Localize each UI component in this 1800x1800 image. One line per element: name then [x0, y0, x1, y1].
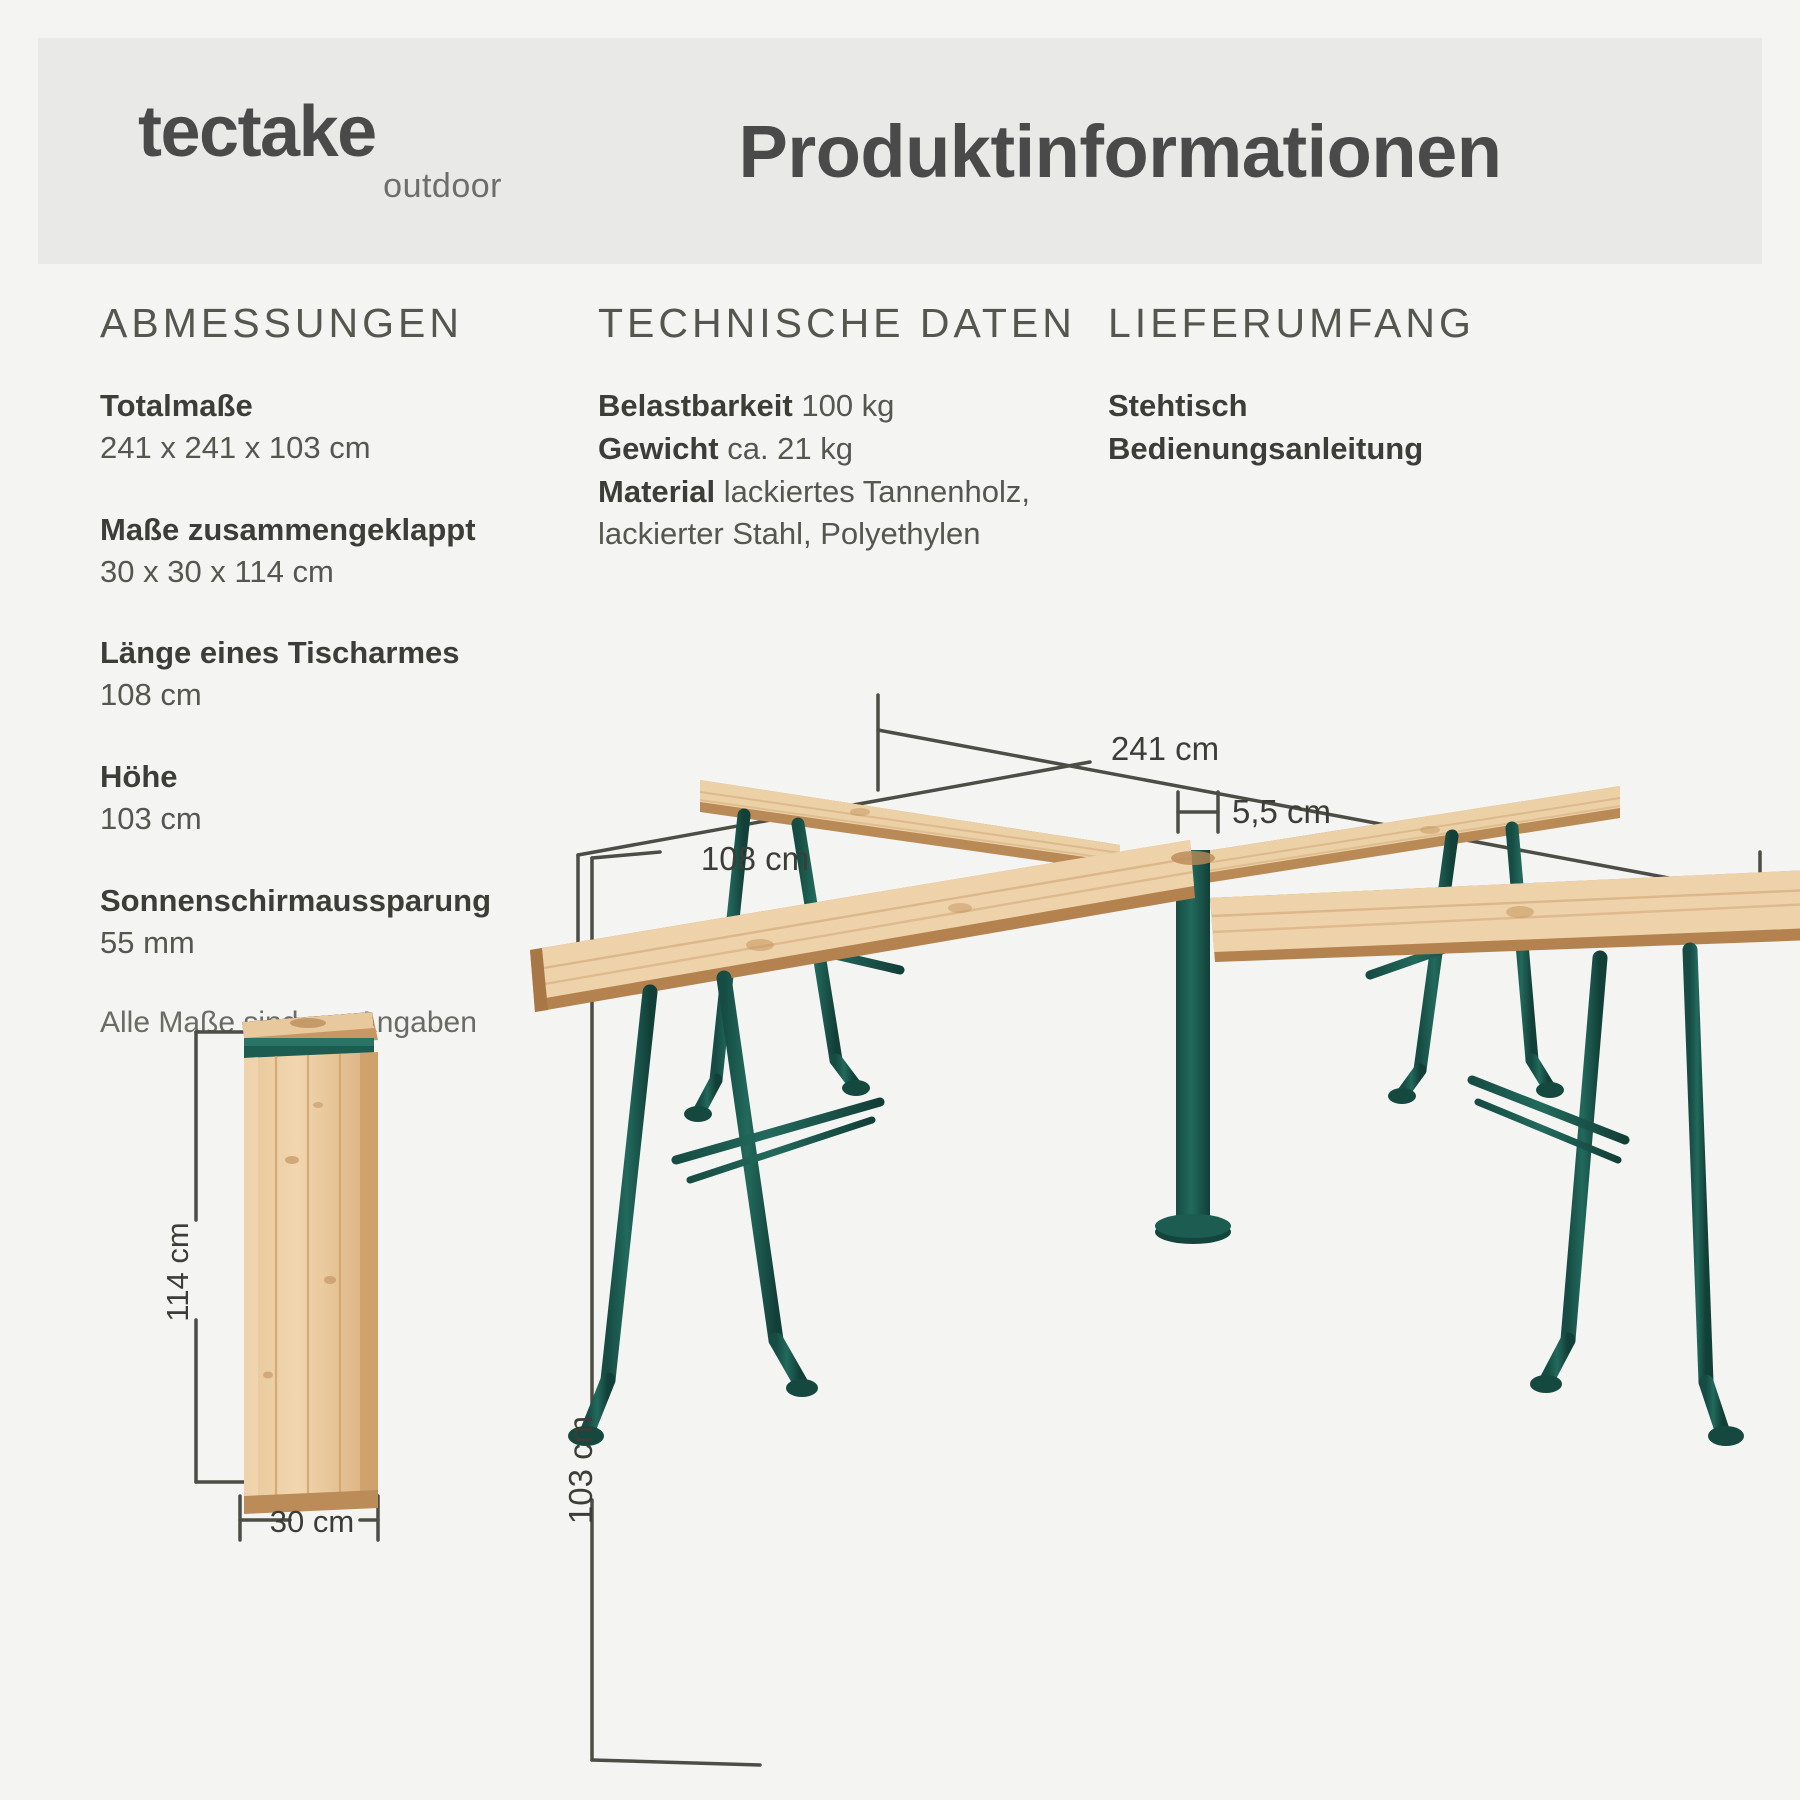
- dimension-label-folded-height: 114 cm: [160, 1222, 195, 1321]
- tech-value: ca. 21 kg: [727, 431, 853, 466]
- logo-tagline: outdoor: [383, 168, 508, 205]
- spec-value: 241 x 241 x 103 cm: [100, 427, 568, 469]
- leg-front-right: [1472, 950, 1744, 1446]
- dimension-label-height: 103 cm: [562, 1416, 599, 1524]
- column-title-dimensions: ABMESSUNGEN: [100, 300, 568, 347]
- tech-label: Material: [598, 474, 715, 509]
- column-title-technical: TECHNISCHE DATEN: [598, 300, 1078, 347]
- header-bar: tectake outdoor Produktinformationen: [38, 38, 1762, 264]
- tech-label: Gewicht: [598, 431, 719, 466]
- tech-row-gewicht: Gewicht ca. 21 kg: [598, 428, 1078, 471]
- table-arm-front-left: [530, 840, 1195, 1012]
- folded-table-illustration: [242, 1012, 378, 1514]
- product-illustration: 241 cm 108 cm 5,5 cm 103 cm 114 cm 30 cm: [0, 640, 1800, 1800]
- dimension-label-arm-length: 108 cm: [701, 840, 809, 877]
- tech-label: Belastbarkeit: [598, 388, 793, 423]
- tech-row-belastbarkeit: Belastbarkeit 100 kg: [598, 385, 1078, 428]
- leg-back-right: [1370, 828, 1564, 1104]
- tech-value: 100 kg: [801, 388, 894, 423]
- brand-logo: tectake outdoor: [38, 96, 508, 205]
- dimension-label-top-thickness: 5,5 cm: [1232, 793, 1331, 830]
- spec-value: 30 x 30 x 114 cm: [100, 551, 568, 593]
- cross-table-illustration: [530, 780, 1800, 1446]
- dimension-lines: [196, 695, 1760, 1765]
- dimension-label-folded-width: 30 cm: [270, 1504, 354, 1539]
- column-title-delivery: LIEFERUMFANG: [1108, 300, 1678, 347]
- table-arm-front-right: [1210, 870, 1800, 962]
- spec-group-folded: Maße zusammengeklappt 30 x 30 x 114 cm: [100, 509, 568, 593]
- spec-group-totalmasse: Totalmaße 241 x 241 x 103 cm: [100, 385, 568, 469]
- logo-wordmark: tectake: [138, 96, 376, 168]
- delivery-item: Stehtisch: [1108, 385, 1678, 428]
- umbrella-hole: [1171, 851, 1215, 865]
- product-info-sheet: tectake outdoor Produktinformationen ABM…: [0, 0, 1800, 1800]
- tech-row-material: Material lackiertes Tannenholz, lackiert…: [598, 471, 1078, 557]
- page-title: Produktinformationen: [508, 109, 1762, 194]
- spec-label: Maße zusammengeklappt: [100, 509, 568, 551]
- spec-label: Totalmaße: [100, 385, 568, 427]
- delivery-item: Bedienungsanleitung: [1108, 428, 1678, 471]
- dimension-label-total-length: 241 cm: [1111, 730, 1219, 767]
